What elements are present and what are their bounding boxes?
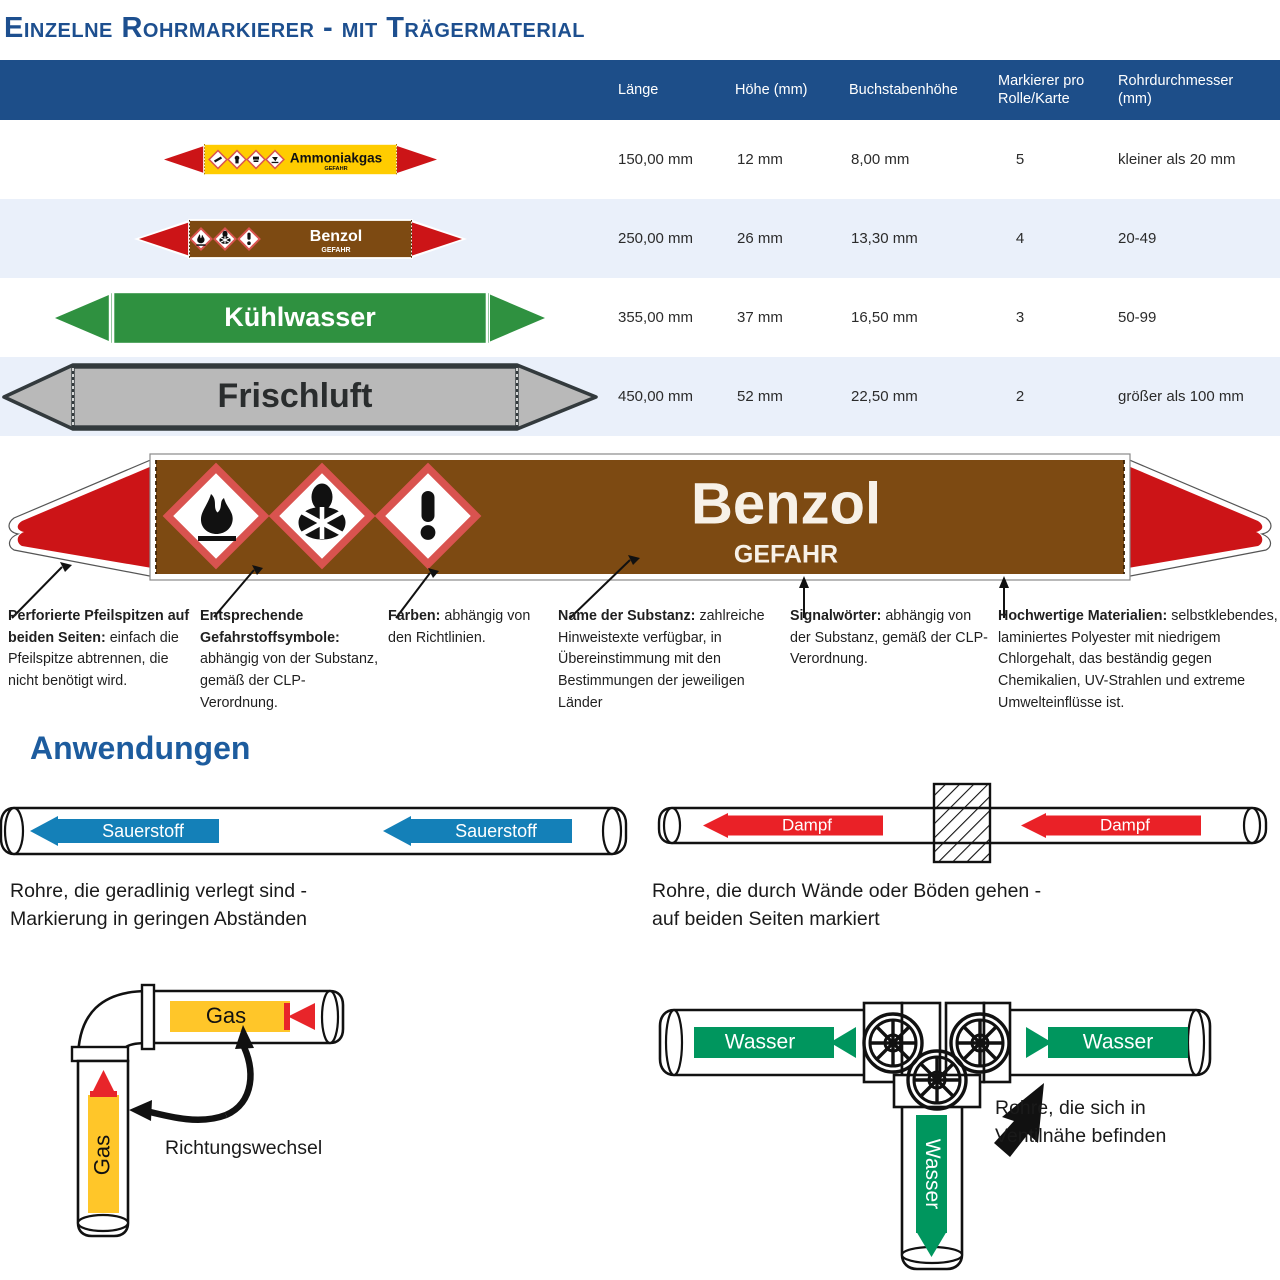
cell-markierer: 2	[1000, 357, 1040, 436]
callout-list: Perforierte Pfeilspitzen auf beiden Seit…	[0, 606, 1280, 726]
marker-label-text: Ammoniakgas	[289, 151, 381, 166]
app-caption-direction-change: Richtungswechsel	[165, 1135, 465, 1163]
app-tag-label: Gas	[89, 1135, 114, 1175]
cell-hoehe: 26 mm	[737, 199, 827, 278]
app-tag-label: Dampf	[1100, 815, 1150, 834]
app-tag-dampf-2: Dampf	[1021, 813, 1201, 838]
cell-buchstabenhoehe: 13,30 mm	[851, 199, 971, 278]
row-marker-preview: Kühlwasser	[0, 278, 600, 357]
app-caption-line1: Richtungswechsel	[165, 1135, 465, 1163]
cell-markierer: 5	[1000, 120, 1040, 199]
callout-materials: Hochwertige Materialien: selbstklebendes…	[998, 606, 1280, 715]
callout-signal-words: Signalwörter: abhängig von der Substanz,…	[790, 606, 990, 671]
column-header-markierer-line1: Markierer pro	[998, 72, 1084, 90]
column-header-buchstabenhoehe: Buchstabenhöhe	[849, 60, 979, 120]
app-tag-label: Wasser	[1083, 1031, 1153, 1054]
row-marker-preview: Benzol GEFAHR	[0, 199, 600, 278]
marker-signal-word: GEFAHR	[321, 247, 350, 254]
marker-kuehlwasser: Kühlwasser	[47, 289, 553, 347]
column-header-hoehe: Höhe (mm)	[735, 60, 835, 120]
valve-wheel-bottom	[908, 1051, 966, 1109]
cell-markierer: 3	[1000, 278, 1040, 357]
marker-benzol: Benzol GEFAHR	[133, 217, 468, 261]
callout-perforated-tips: Perforierte Pfeilspitzen auf beiden Seit…	[8, 606, 192, 693]
column-header-rohr-line1: Rohrdurchmesser	[1118, 72, 1233, 90]
callout-hazard-symbols: Entsprechende Gefahrstoffsymbole: abhäng…	[200, 606, 380, 715]
app-tag-label: Wasser	[725, 1031, 795, 1054]
cell-buchstabenhoehe: 8,00 mm	[851, 120, 971, 199]
app-tag-label: Sauerstoff	[455, 821, 538, 841]
app-caption-line2: auf beiden Seiten markiert	[652, 906, 1272, 934]
cell-rohrdurchmesser: 20-49	[1118, 199, 1278, 278]
row-marker-preview: Ammoniakgas GEFAHR	[0, 120, 600, 199]
marker-label-text: Benzol	[309, 228, 361, 245]
cell-buchstabenhoehe: 22,50 mm	[851, 357, 971, 436]
column-header-rohrdurchmesser: Rohrdurchmesser (mm)	[1118, 60, 1268, 120]
app-tag-label: Sauerstoff	[102, 821, 185, 841]
app-tag-wasser-right: Wasser	[1026, 1027, 1188, 1058]
marker-label-text: Kühlwasser	[224, 302, 376, 332]
callout-heading: Hochwertige Materialien:	[998, 608, 1167, 624]
column-header-markierer-line2: Rolle/Karte	[998, 90, 1084, 108]
app-straight-pipe-diagram: Sauerstoff Sauerstoff	[0, 800, 630, 862]
column-header-markierer: Markierer pro Rolle/Karte	[998, 60, 1102, 120]
marker-ammoniakgas: Ammoniakgas GEFAHR	[158, 142, 443, 177]
cell-hoehe: 12 mm	[737, 120, 827, 199]
callout-colors: Farben: abhängig von den Richtlinien.	[388, 606, 554, 649]
callout-heading: Signalwörter:	[790, 608, 881, 624]
marker-label-text: Frischluft	[218, 376, 373, 414]
app-caption-line1: Rohre, die durch Wände oder Böden gehen …	[652, 878, 1272, 906]
app-caption-line1: Rohre, die geradlinig verlegt sind -	[10, 878, 610, 906]
cell-markierer: 4	[1000, 199, 1040, 278]
marker-signal-word: GEFAHR	[324, 166, 347, 172]
app-tag-dampf-1: Dampf	[703, 813, 883, 838]
wall-hatch	[934, 784, 990, 862]
cell-laenge: 450,00 mm	[618, 357, 714, 436]
column-header-laenge: Länge	[618, 60, 708, 120]
cell-hoehe: 52 mm	[737, 357, 827, 436]
callout-body: abhängig von der Substanz, gemäß der CLP…	[200, 651, 378, 710]
marker-frischluft: Frischluft	[0, 361, 600, 433]
app-caption-through-wall: Rohre, die durch Wände oder Böden gehen …	[652, 878, 1272, 933]
app-tag-wasser-bottom: Wasser	[916, 1115, 947, 1257]
app-tag-sauerstoff-2: Sauerstoff	[383, 816, 572, 846]
app-tag-label: Wasser	[921, 1139, 944, 1209]
app-tag-label: Dampf	[782, 815, 832, 834]
table-row: Benzol GEFAHR 250,00 mm 26 mm 13,30 mm 4…	[0, 199, 1280, 278]
cell-hoehe: 37 mm	[737, 278, 827, 357]
app-caption-near-valves: Rohre, die sich in Ventilnähe befinden	[995, 1095, 1280, 1150]
app-caption-line2: Markierung in geringen Abständen	[10, 906, 610, 934]
cell-buchstabenhoehe: 16,50 mm	[851, 278, 971, 357]
cell-laenge: 355,00 mm	[618, 278, 714, 357]
table-header-row: Länge Höhe (mm) Buchstabenhöhe Markierer…	[0, 60, 1280, 120]
app-direction-change-diagram: Gas Gas	[30, 965, 450, 1265]
applications-title: Anwendungen	[30, 730, 250, 767]
callout-substance-name: Name der Substanz: zahlreiche Hinweistex…	[558, 606, 786, 715]
cell-laenge: 150,00 mm	[618, 120, 714, 199]
cell-rohrdurchmesser: 50-99	[1118, 278, 1278, 357]
callout-heading: Farben:	[388, 608, 440, 624]
app-caption-line2: Ventilnähe befinden	[995, 1123, 1280, 1151]
table-row: Ammoniakgas GEFAHR 150,00 mm 12 mm 8,00 …	[0, 120, 1280, 199]
app-through-wall-diagram: Dampf Dampf	[650, 782, 1280, 864]
table-row: Kühlwasser 355,00 mm 37 mm 16,50 mm 3 50…	[0, 278, 1280, 357]
app-tag-sauerstoff-1: Sauerstoff	[30, 816, 219, 846]
cell-laenge: 250,00 mm	[618, 199, 714, 278]
callout-heading: Entsprechende Gefahrstoffsymbole:	[200, 608, 340, 646]
app-tag-gas-vertical: Gas	[88, 1070, 119, 1213]
callout-heading: Name der Substanz:	[558, 608, 695, 624]
page-title: Einzelne Rohrmarkierer - mit Trägermater…	[4, 12, 585, 45]
app-tag-wasser-left: Wasser	[694, 1027, 856, 1058]
cell-rohrdurchmesser: größer als 100 mm	[1118, 357, 1278, 436]
spec-table: Länge Höhe (mm) Buchstabenhöhe Markierer…	[0, 60, 1280, 436]
app-tag-label: Gas	[206, 1003, 246, 1028]
column-header-rohr-line2: (mm)	[1118, 90, 1233, 108]
app-caption-straight-pipe: Rohre, die geradlinig verlegt sind - Mar…	[10, 878, 610, 933]
app-caption-line1: Rohre, die sich in	[995, 1095, 1280, 1123]
table-row: Frischluft 450,00 mm 52 mm 22,50 mm 2 gr…	[0, 357, 1280, 436]
row-marker-preview: Frischluft	[0, 357, 600, 436]
cell-rohrdurchmesser: kleiner als 20 mm	[1118, 120, 1278, 199]
